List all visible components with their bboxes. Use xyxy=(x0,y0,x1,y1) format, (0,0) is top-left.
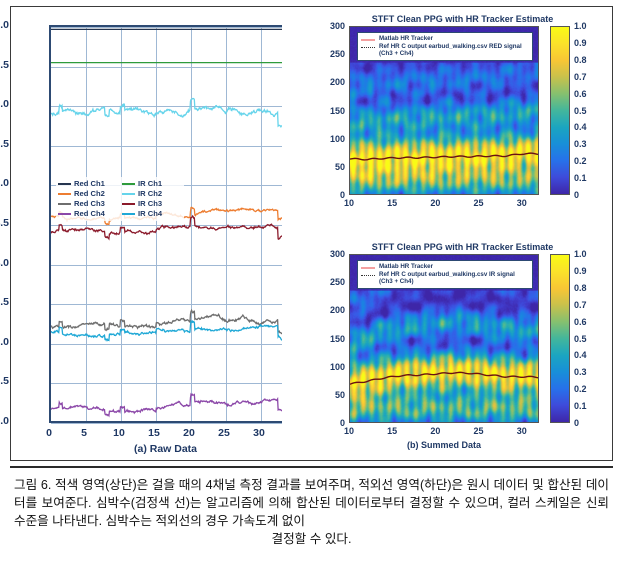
legend-row-tracker: Matlab HR Tracker xyxy=(361,35,529,43)
raw-plot-area xyxy=(49,25,282,423)
figure-panel: 2.02.53.03.54.04.55.05.56.06.57.0 051015… xyxy=(10,6,613,461)
legend-label-ref-cont: (Ch3 + Ch4) xyxy=(379,50,522,58)
colorbar-tick-label: 0 xyxy=(574,190,604,200)
colorbar-tick-label: 0.2 xyxy=(574,156,604,166)
legend-label-ref: Ref HR C output earbud_walking.csv IR si… xyxy=(379,271,515,279)
raw-data-traces xyxy=(51,27,282,423)
legend-label: Red Ch4 xyxy=(74,209,105,219)
colorbar-tick-label: 0.6 xyxy=(574,317,604,327)
x-tick-label: 20 xyxy=(174,427,204,439)
x-tick-label: 30 xyxy=(507,198,537,208)
y-tick-label: 100 xyxy=(311,134,345,144)
legend-color-swatch xyxy=(122,193,135,195)
dotted-line-icon xyxy=(361,271,375,276)
legend-label-tracker: Matlab HR Tracker xyxy=(379,35,433,43)
colorbar-tick-label: 0 xyxy=(574,418,604,428)
colorbar-tick-label: 0.7 xyxy=(574,72,604,82)
stft-ir-x-axis-label: (b) Summed Data xyxy=(349,440,539,450)
x-tick-label: 0 xyxy=(34,427,64,439)
colorbar-tick-label: 0.1 xyxy=(574,173,604,183)
legend-label: IR Ch2 xyxy=(138,189,162,199)
legend-item: IR Ch1 xyxy=(122,179,182,189)
y-tick-label: 200 xyxy=(311,77,345,87)
legend-label: Red Ch3 xyxy=(74,199,105,209)
legend-label: IR Ch3 xyxy=(138,199,162,209)
y-tick-label: 2.5 xyxy=(0,375,9,387)
hr-tracker-trace xyxy=(350,372,539,384)
y-tick-label: 100 xyxy=(311,362,345,372)
solid-line-icon xyxy=(361,35,375,41)
y-tick-label: 5.0 xyxy=(0,177,9,189)
legend-item: IR Ch3 xyxy=(122,199,182,209)
x-tick-label: 30 xyxy=(507,426,537,436)
y-tick-label: 4.0 xyxy=(0,257,9,269)
y-tick-label: 6.0 xyxy=(0,98,9,110)
y-tick-label: 3.0 xyxy=(0,336,9,348)
stft-red-colorbar xyxy=(550,26,570,195)
y-tick-label: 50 xyxy=(311,162,345,172)
legend-color-swatch xyxy=(122,213,135,215)
stft-ir-legend: Matlab HR Tracker Ref HR C output earbud… xyxy=(357,260,533,289)
y-tick-label: 300 xyxy=(311,21,345,31)
caption-last-line: 결정할 수 있다. xyxy=(14,530,609,548)
colorbar-tick-label: 0.8 xyxy=(574,55,604,65)
stft-ir-title: STFT Clean PPG with HR Tracker Estimate xyxy=(311,242,614,252)
legend-label-tracker: Matlab HR Tracker xyxy=(379,263,433,271)
legend-row-ref: Ref HR C output earbud_walking.csv RED s… xyxy=(361,43,529,58)
trace-ir-ch2 xyxy=(51,98,282,126)
colorbar-tick-label: 1.0 xyxy=(574,21,604,31)
stft-red-legend: Matlab HR Tracker Ref HR C output earbud… xyxy=(357,32,533,61)
raw-chart-legend: Red Ch1IR Ch1Red Ch2IR Ch2Red Ch3IR Ch3R… xyxy=(56,177,184,221)
colorbar-tick-label: 0.6 xyxy=(574,89,604,99)
y-tick-label: 4.5 xyxy=(0,217,9,229)
caption-divider xyxy=(10,466,613,468)
colorbar-tick-label: 0.9 xyxy=(574,266,604,276)
x-tick-label: 20 xyxy=(420,198,450,208)
stft-red-chart: STFT Clean PPG with HR Tracker Estimate … xyxy=(311,7,614,234)
stft-red-title: STFT Clean PPG with HR Tracker Estimate xyxy=(311,14,614,24)
x-tick-label: 15 xyxy=(139,427,169,439)
x-tick-label: 15 xyxy=(377,426,407,436)
y-tick-label: 3.5 xyxy=(0,296,9,308)
y-tick-label: 2.0 xyxy=(0,415,9,427)
y-tick-label: 6.5 xyxy=(0,59,9,71)
legend-item: Red Ch4 xyxy=(58,209,118,219)
legend-item: Red Ch2 xyxy=(58,189,118,199)
y-tick-label: 300 xyxy=(311,249,345,259)
y-tick-label: 50 xyxy=(311,390,345,400)
caption-body: 그림 6. 적색 영역(상단)은 걸을 때의 4채널 측정 결과를 보여주며, … xyxy=(14,478,609,528)
stft-ir-colorbar xyxy=(550,254,570,423)
legend-item: IR Ch2 xyxy=(122,189,182,199)
x-tick-label: 20 xyxy=(420,426,450,436)
legend-label: Red Ch1 xyxy=(74,179,105,189)
y-tick-label: 150 xyxy=(311,106,345,116)
legend-color-swatch xyxy=(58,193,71,195)
colorbar-tick-label: 0.5 xyxy=(574,106,604,116)
raw-x-axis-label: (a) Raw Data xyxy=(49,443,282,455)
legend-label: IR Ch1 xyxy=(138,179,162,189)
trace-red-ch3 xyxy=(51,310,282,334)
y-tick-label: 250 xyxy=(311,277,345,287)
legend-color-swatch xyxy=(58,183,71,185)
hr-tracker-trace xyxy=(350,153,539,160)
legend-color-swatch xyxy=(58,203,71,205)
stft-ir-chart: STFT Clean PPG with HR Tracker Estimate … xyxy=(311,235,614,462)
y-tick-label: 5.5 xyxy=(0,138,9,150)
legend-label-ref-cont: (Ch3 + Ch4) xyxy=(379,278,515,286)
legend-item: IR Ch4 xyxy=(122,209,182,219)
y-tick-label: 7.0 xyxy=(0,19,9,31)
colorbar-tick-label: 0.5 xyxy=(574,334,604,344)
raw-data-chart: 2.02.53.03.54.04.55.05.56.06.57.0 051015… xyxy=(11,7,311,462)
x-tick-label: 25 xyxy=(464,426,494,436)
colorbar-tick-label: 0.4 xyxy=(574,350,604,360)
legend-color-swatch xyxy=(122,203,135,205)
x-tick-label: 25 xyxy=(209,427,239,439)
colorbar-tick-label: 0.7 xyxy=(574,300,604,310)
legend-row-ref: Ref HR C output earbud_walking.csv IR si… xyxy=(361,271,529,286)
legend-label: IR Ch4 xyxy=(138,209,162,219)
x-tick-label: 10 xyxy=(334,198,364,208)
legend-color-swatch xyxy=(122,183,135,185)
legend-label-ref: Ref HR C output earbud_walking.csv RED s… xyxy=(379,43,522,51)
colorbar-tick-label: 0.3 xyxy=(574,367,604,377)
legend-row-tracker: Matlab HR Tracker xyxy=(361,263,529,271)
y-tick-label: 200 xyxy=(311,305,345,315)
solid-line-icon xyxy=(361,263,375,269)
x-tick-label: 25 xyxy=(464,198,494,208)
x-tick-label: 15 xyxy=(377,198,407,208)
colorbar-tick-label: 1.0 xyxy=(574,249,604,259)
y-tick-label: 150 xyxy=(311,334,345,344)
x-tick-label: 10 xyxy=(104,427,134,439)
x-tick-label: 5 xyxy=(69,427,99,439)
colorbar-tick-label: 0.1 xyxy=(574,401,604,411)
colorbar-tick-label: 0.4 xyxy=(574,122,604,132)
colorbar-tick-label: 0.2 xyxy=(574,384,604,394)
x-tick-label: 10 xyxy=(334,426,364,436)
colorbar-tick-label: 0.3 xyxy=(574,139,604,149)
colorbar-tick-label: 0.9 xyxy=(574,38,604,48)
trace-red-ch4 xyxy=(51,394,282,416)
legend-item: Red Ch1 xyxy=(58,179,118,189)
x-tick-label: 30 xyxy=(244,427,274,439)
legend-item: Red Ch3 xyxy=(58,199,118,209)
gridline-horizontal xyxy=(51,423,282,424)
legend-label: Red Ch2 xyxy=(74,189,105,199)
dotted-line-icon xyxy=(361,43,375,48)
figure-caption: 그림 6. 적색 영역(상단)은 걸을 때의 4채널 측정 결과를 보여주며, … xyxy=(14,476,609,548)
colorbar-tick-label: 0.8 xyxy=(574,283,604,293)
y-tick-label: 250 xyxy=(311,49,345,59)
legend-color-swatch xyxy=(58,213,71,215)
